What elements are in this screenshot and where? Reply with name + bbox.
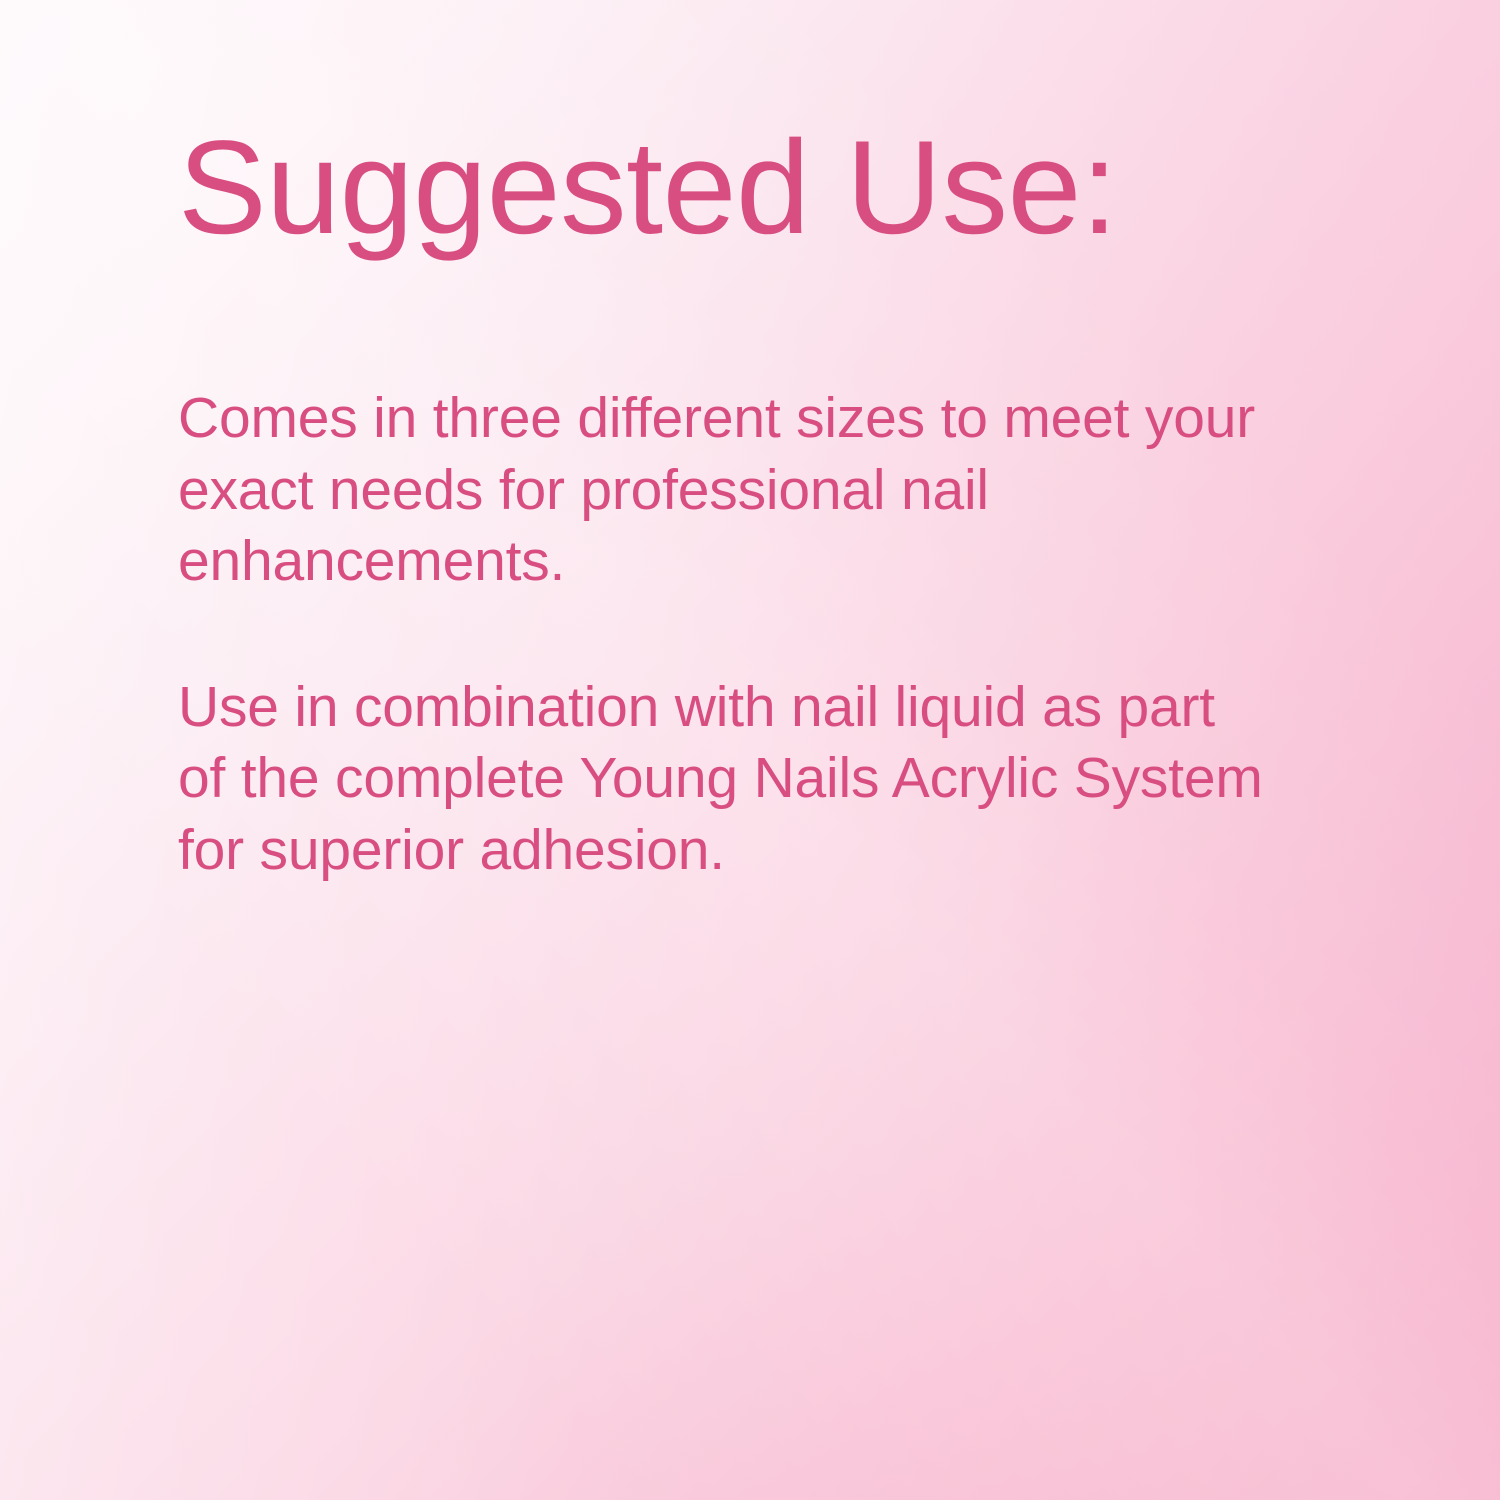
content-column: Suggested Use: Comes in three different … — [178, 122, 1268, 886]
paragraph-system: Use in combination with nail liquid as p… — [178, 672, 1263, 887]
page-title: Suggested Use: — [178, 122, 1268, 255]
body-copy: Comes in three different sizes to meet y… — [178, 383, 1268, 886]
suggested-use-panel: Suggested Use: Comes in three different … — [0, 0, 1500, 1500]
paragraph-sizes: Comes in three different sizes to meet y… — [178, 383, 1263, 598]
